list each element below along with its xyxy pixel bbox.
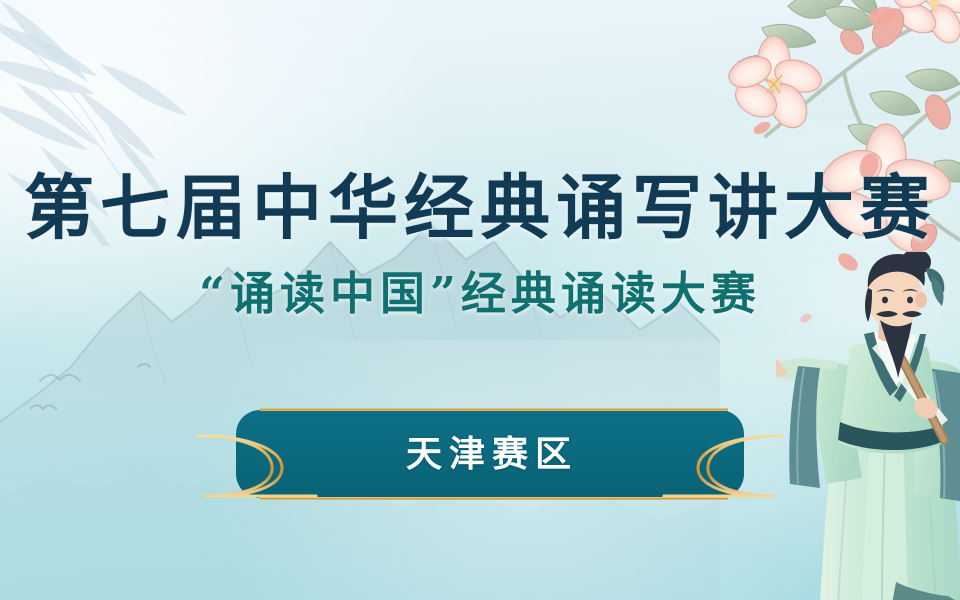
ribbon-banner-icon: 天津赛区 — [186, 392, 794, 510]
page-subtitle: “诵读中国”经典诵读大赛 — [0, 266, 960, 322]
page-title: 第七届中华经典诵写讲大赛 — [0, 166, 960, 250]
region-badge: 天津赛区 — [186, 392, 794, 510]
headline-block: 第七届中华经典诵写讲大赛 “诵读中国”经典诵读大赛 — [0, 166, 960, 322]
poster-canvas: 第七届中华经典诵写讲大赛 “诵读中国”经典诵读大赛 — [0, 0, 960, 600]
